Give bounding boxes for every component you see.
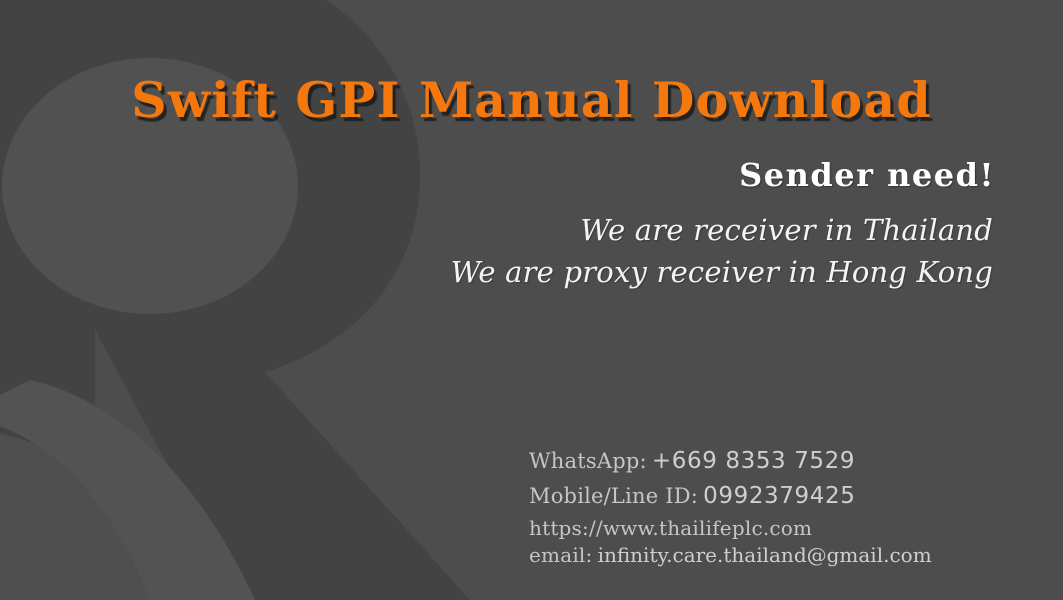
contact-value-mobile-line-id[interactable]: 0992379425 xyxy=(703,483,855,509)
contact-row-whatsapp: WhatsApp: +669 8353 7529 xyxy=(529,448,999,474)
tagline-proxy-receiver-hongkong: We are proxy receiver in Hong Kong xyxy=(451,255,993,289)
page-title: Swift GPI Manual Download xyxy=(0,76,1063,125)
tagline-receiver-thailand: We are receiver in Thailand xyxy=(580,213,993,247)
subtitle-sender-need: Sender need! xyxy=(739,156,995,194)
contact-row-mobile-line-id: Mobile/Line ID: 0992379425 xyxy=(529,483,999,509)
contact-block: WhatsApp: +669 8353 7529 Mobile/Line ID:… xyxy=(529,448,999,567)
contact-row-website[interactable]: https://www.thailifeplc.com xyxy=(529,516,999,540)
contact-value-website[interactable]: https://www.thailifeplc.com xyxy=(529,516,812,540)
contact-value-email[interactable]: infinity.care.thailand@gmail.com xyxy=(598,543,932,567)
contact-value-whatsapp[interactable]: +669 8353 7529 xyxy=(652,448,855,474)
contact-label-mobile-line-id: Mobile/Line ID: xyxy=(529,484,698,508)
promo-banner: Swift GPI Manual Download Sender need! W… xyxy=(0,0,1063,600)
contact-label-email: email: xyxy=(529,543,592,567)
contact-label-whatsapp: WhatsApp: xyxy=(529,449,647,473)
contact-row-email: email: infinity.care.thailand@gmail.com xyxy=(529,543,999,567)
